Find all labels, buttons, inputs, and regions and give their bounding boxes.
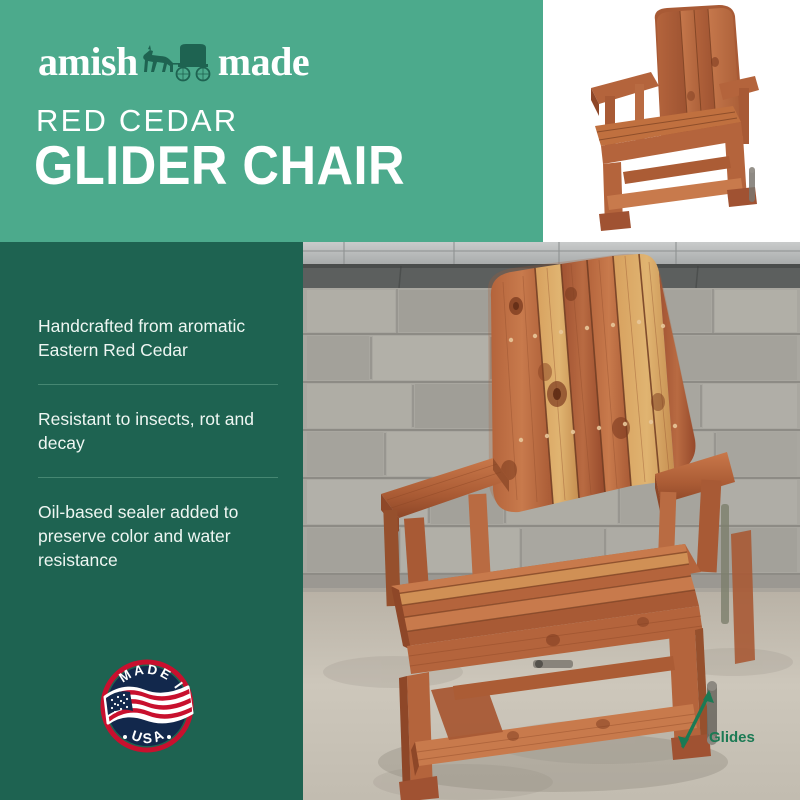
page-title: GLIDER CHAIR — [34, 136, 405, 194]
made-in-usa-badge: MADE IN USA — [92, 651, 202, 761]
logo-word-amish: amish — [38, 42, 138, 82]
glides-label: Glides — [709, 729, 755, 746]
brand-logo: amish — [38, 38, 309, 82]
header-band: amish — [0, 0, 543, 242]
features-list: Handcrafted from aromatic Eastern Red Ce… — [38, 314, 283, 572]
feature-item-2: Resistant to insects, rot and decay — [38, 407, 283, 455]
main-product-photo — [303, 242, 800, 800]
product-infographic: amish — [0, 0, 800, 800]
feature-item-1: Handcrafted from aromatic Eastern Red Ce… — [38, 314, 283, 362]
feature-item-3: Oil-based sealer added to preserve color… — [38, 500, 283, 572]
logo-word-made: made — [218, 42, 309, 82]
feature-divider-2 — [38, 477, 278, 478]
feature-divider-1 — [38, 384, 278, 385]
inset-product-photo — [543, 0, 800, 242]
horse-and-buggy-icon — [140, 42, 216, 84]
